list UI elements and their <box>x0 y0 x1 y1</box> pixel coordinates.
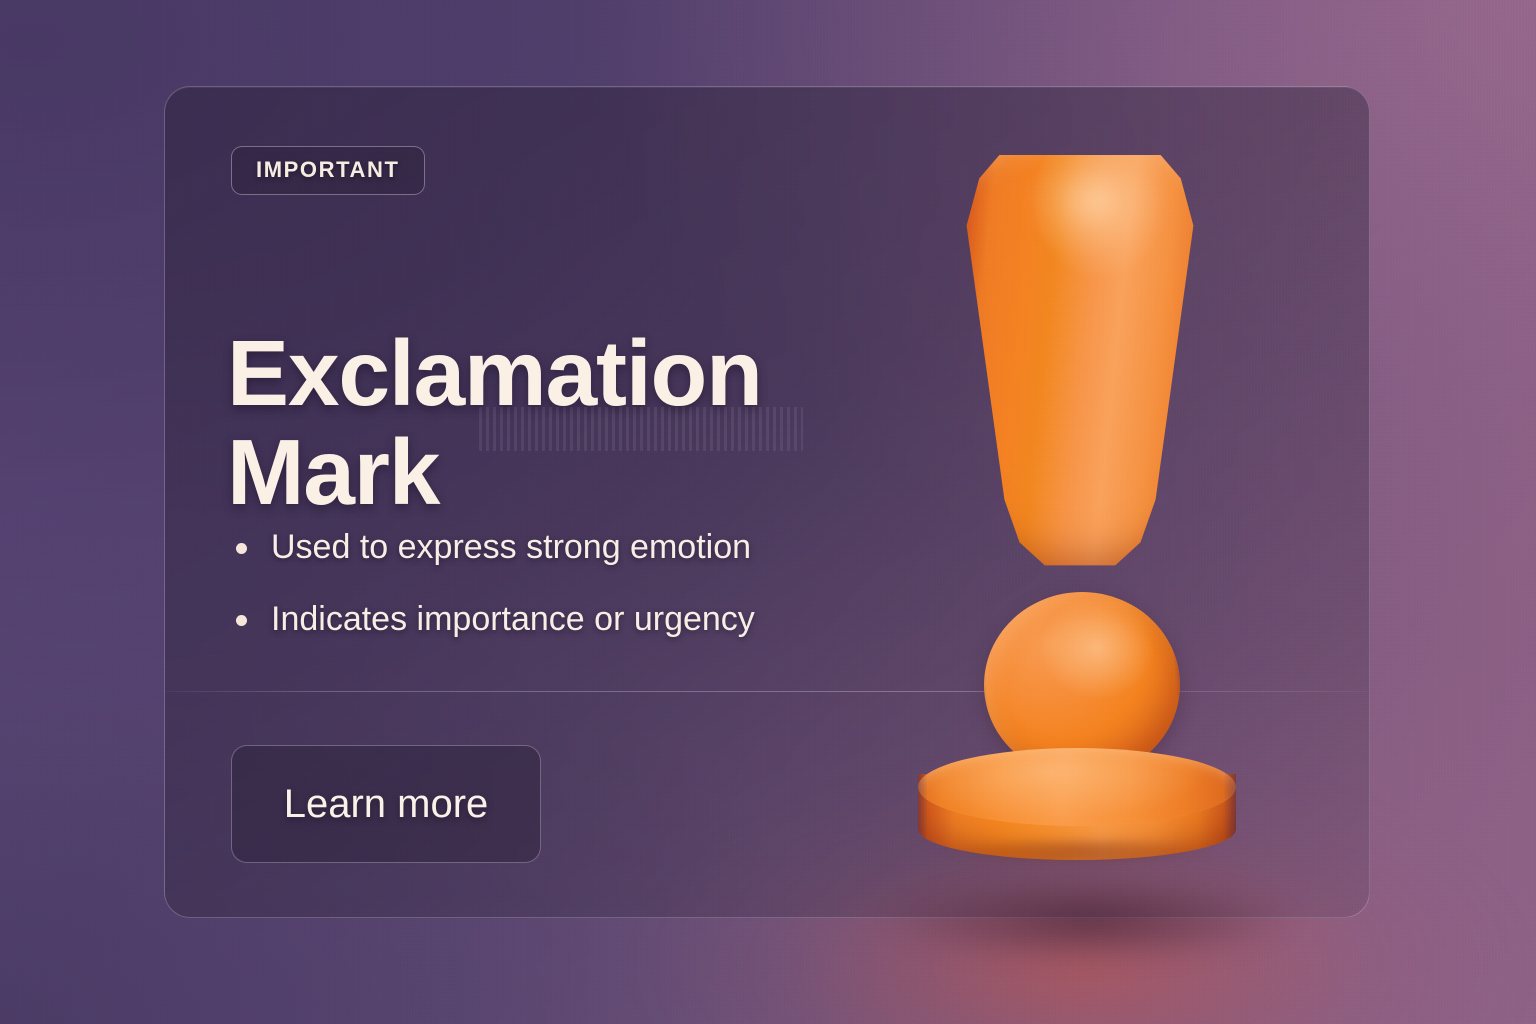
list-item-label: Indicates importance or urgency <box>271 600 755 638</box>
status-badge: IMPORTANT <box>231 146 425 195</box>
learn-more-button[interactable]: Learn more <box>231 745 541 863</box>
list-item-label: Used to express strong emotion <box>271 528 751 566</box>
illustration-banner: IMPORTANT Exclamation Mark Used to expre… <box>0 0 1536 1024</box>
pedestal-top <box>918 748 1236 826</box>
learn-more-label: Learn more <box>284 782 489 827</box>
exclamation-mark-illustration <box>870 120 1310 910</box>
bullet-dot-icon <box>236 543 247 554</box>
bullet-dot-icon <box>236 615 247 626</box>
pedestal-bottom-shadow <box>936 840 1218 866</box>
contact-shadow <box>880 880 1300 970</box>
exclamation-stem-icon <box>954 140 1206 568</box>
exclamation-stem-edge-shading <box>954 140 1206 568</box>
exclamation-stem-highlight <box>1020 157 1161 268</box>
pedestal-base <box>918 748 1236 872</box>
